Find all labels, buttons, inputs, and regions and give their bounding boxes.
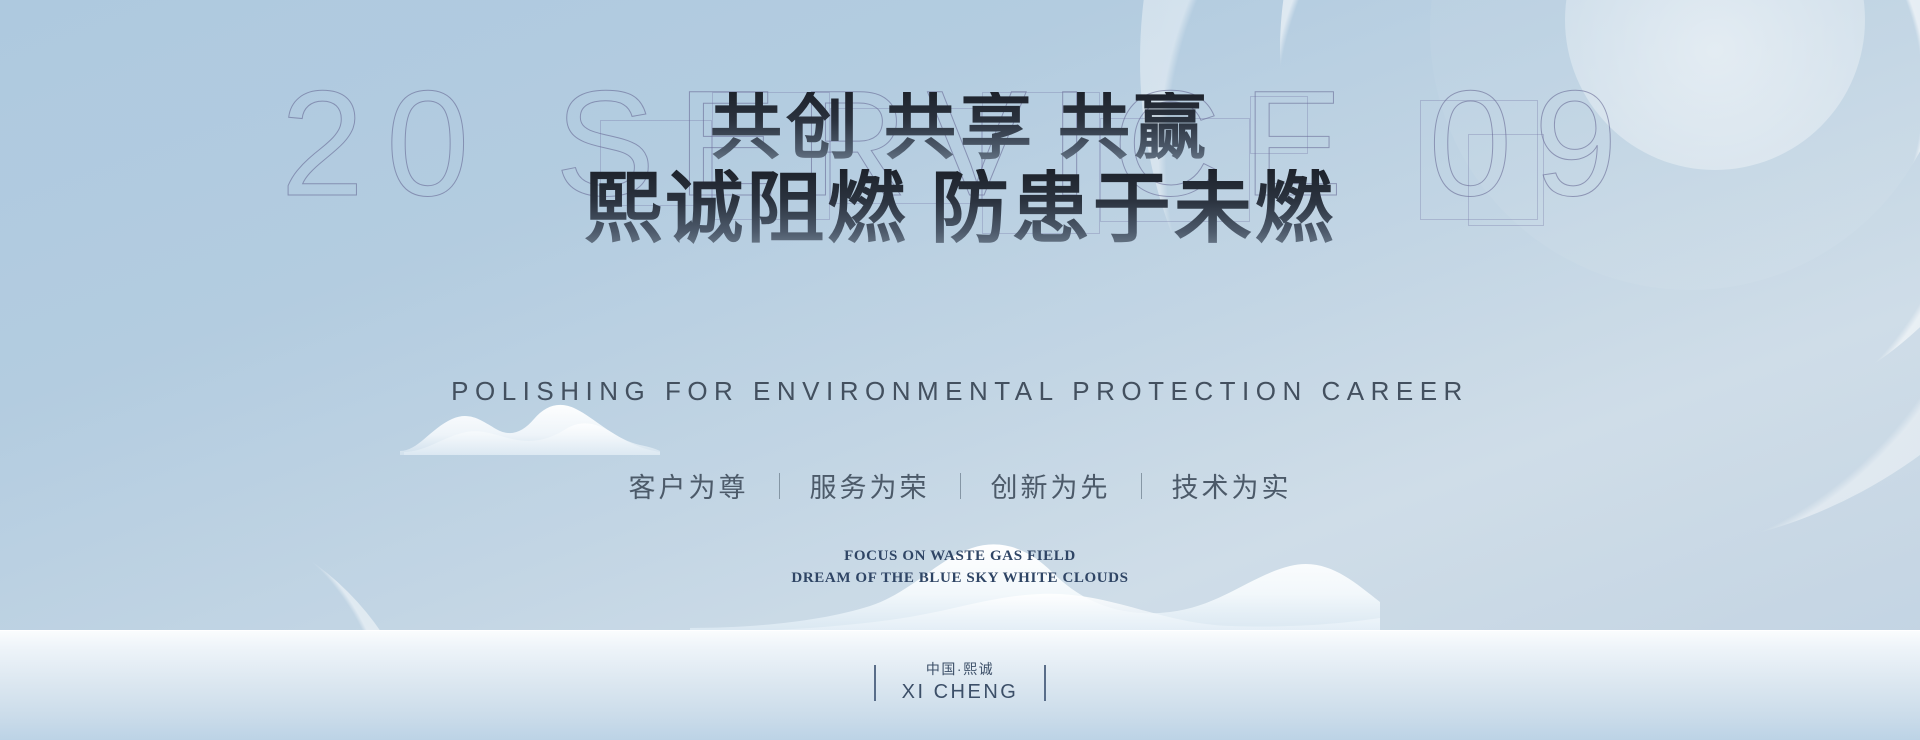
english-tagline: POLISHING FOR ENVIRONMENTAL PROTECTION C… <box>0 376 1920 407</box>
microcopy-line-2: DREAM OF THE BLUE SKY WHITE CLOUDS <box>0 568 1920 590</box>
microcopy-line-1: FOCUS ON WASTE GAS FIELD <box>0 546 1920 568</box>
logo-text: 中国·熙诚 XI CHENG <box>902 660 1019 705</box>
microcopy-block: FOCUS ON WASTE GAS FIELD DREAM OF THE BL… <box>0 546 1920 590</box>
logo-english-name: XI CHENG <box>902 681 1019 703</box>
headline-secondary: 熙诚阻燃 防患于未燃 <box>0 169 1920 249</box>
headline-block: 共创 共享 共赢 熙诚阻燃 防患于未燃 <box>0 92 1920 249</box>
logo-chinese-name: 中国·熙诚 <box>926 661 994 677</box>
slogan-separator <box>1141 473 1142 499</box>
slogan-row: 客户为尊 服务为荣 创新为先 技术为实 <box>0 466 1920 505</box>
slogan-item-2: 服务为荣 <box>780 466 960 505</box>
slogan-separator <box>779 473 780 499</box>
logo-right-bar-icon <box>1044 665 1046 701</box>
headline-primary: 共创 共享 共赢 <box>0 92 1920 165</box>
slogan-item-3: 创新为先 <box>961 466 1141 505</box>
banner-canvas: 20 SERVICE 09 <box>0 0 1920 740</box>
logo-left-bar-icon <box>874 665 876 701</box>
slogan-item-1: 客户为尊 <box>599 466 779 505</box>
footer-logo: 中国·熙诚 XI CHENG <box>0 660 1920 705</box>
slogan-separator <box>960 473 961 499</box>
slogan-item-4: 技术为实 <box>1142 466 1322 505</box>
